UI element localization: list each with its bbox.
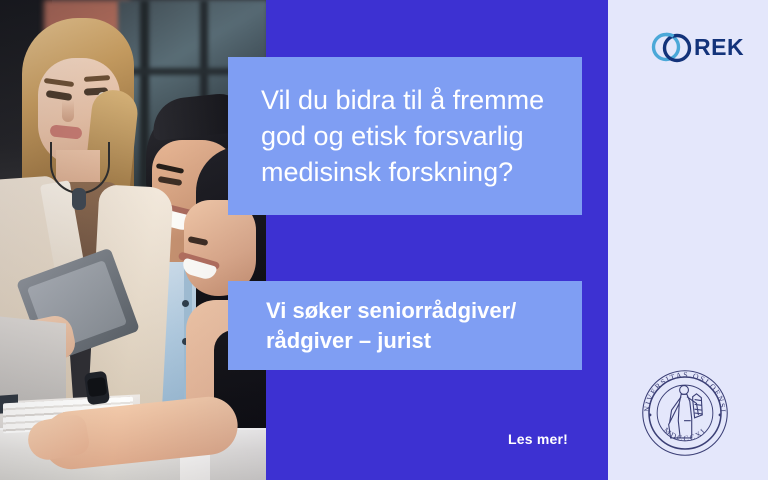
photo-scene: [0, 0, 266, 480]
svg-text:UNIVERSITAS OSLOENSIS: UNIVERSITAS OSLOENSIS: [637, 365, 728, 414]
role-box: Vi søker seniorrådgiver/ rådgiver – juri…: [228, 281, 582, 370]
role-text: Vi søker seniorrådgiver/ rådgiver – juri…: [266, 296, 572, 356]
recruitment-banner[interactable]: REK UNIVERSITAS OSLOENSIS MDCCCXI: [0, 0, 768, 480]
headline-box: Vil du bidra til å fremme god og etisk f…: [228, 57, 582, 215]
uio-seal-icon: UNIVERSITAS OSLOENSIS MDCCCXI: [637, 365, 733, 461]
team-collaboration-photo: [0, 0, 266, 480]
headline-text: Vil du bidra til å fremme god og etisk f…: [261, 82, 561, 190]
photo-color-tint: [0, 0, 266, 480]
rek-logo-text: REK: [694, 34, 744, 61]
university-of-oslo-seal: UNIVERSITAS OSLOENSIS MDCCCXI: [637, 365, 733, 461]
rek-rings-icon: [650, 27, 696, 67]
rek-logo[interactable]: REK: [650, 26, 742, 68]
read-more-link[interactable]: Les mer!: [508, 431, 568, 447]
